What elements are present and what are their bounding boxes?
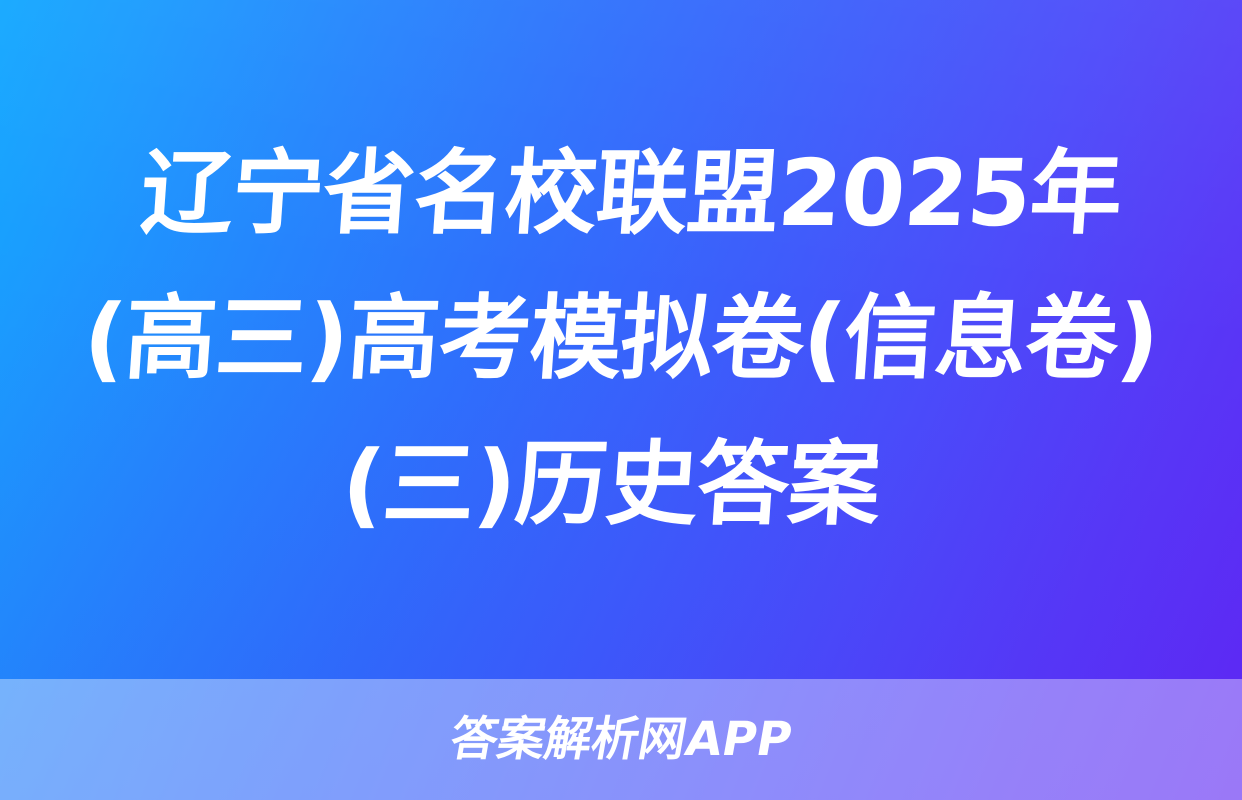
watermark-band: 答案解析网APP <box>0 679 1242 800</box>
watermark-text: 答案解析网APP <box>447 716 796 763</box>
title-block: 辽宁省名校联盟2025年(高三)高考模拟卷(信息卷)(三)历史答案 <box>0 0 1242 679</box>
page-title: 辽宁省名校联盟2025年(高三)高考模拟卷(信息卷)(三)历史答案 <box>63 121 1179 557</box>
answer-cover-card: 辽宁省名校联盟2025年(高三)高考模拟卷(信息卷)(三)历史答案 答案解析网A… <box>0 0 1242 800</box>
